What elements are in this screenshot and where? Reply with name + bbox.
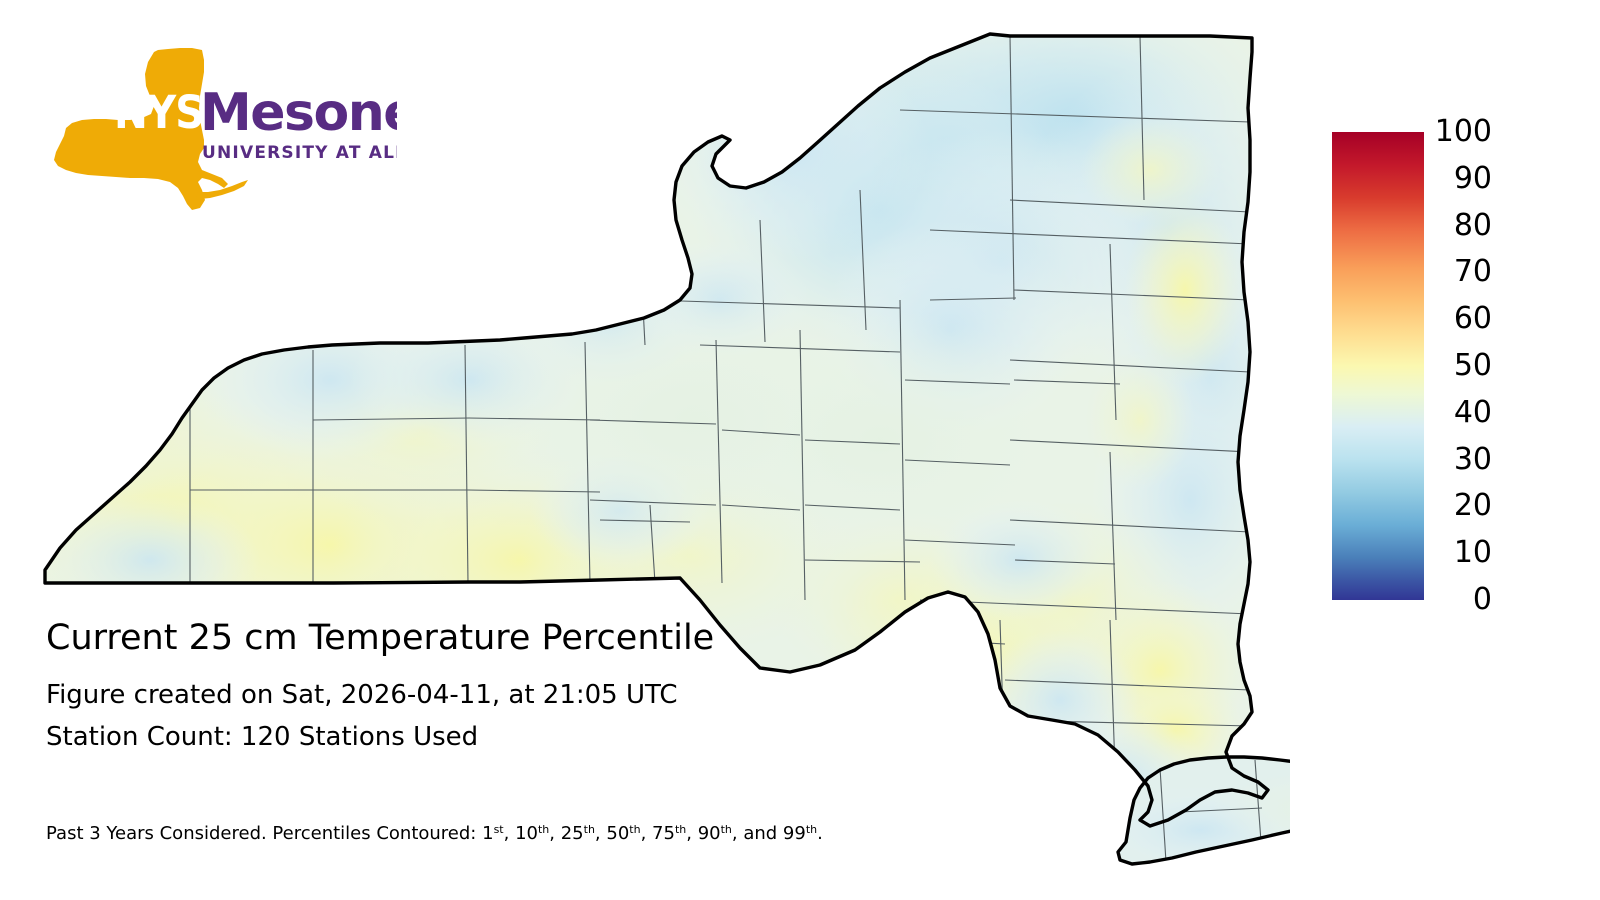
footnote-percentile-ordinal: th: [806, 823, 817, 836]
colorbar-tick-20: 20: [1424, 491, 1492, 521]
footnote-percentile-value: 1: [482, 823, 493, 844]
colorbar-tick-40: 40: [1424, 398, 1492, 428]
colorbar-tick-80: 80: [1424, 211, 1492, 241]
footnote-percentile-value: 25: [561, 823, 584, 844]
colorbar-tick-labels: 100 90 80 70 60 50 40 30 20 10 0: [1424, 132, 1502, 600]
nys-mesonet-logo: NYS Mesonet UNIVERSITY AT ALBANY: [52, 40, 397, 210]
page-title: Current 25 cm Temperature Percentile: [46, 616, 1046, 660]
footnote-prefix: Past 3 Years Considered. Percentiles Con…: [46, 823, 482, 844]
footnote-percentile-ordinal: th: [584, 823, 595, 836]
footnote-percentile-ordinal: th: [675, 823, 686, 836]
colorbar-tick-50: 50: [1424, 351, 1492, 381]
footnote-percentile-value: 10: [515, 823, 538, 844]
colorbar-tick-10: 10: [1424, 538, 1492, 568]
colorbar-gradient: [1332, 132, 1424, 600]
footnote-percentile-value: 90: [698, 823, 721, 844]
footnote-suffix: .: [817, 823, 823, 844]
figure-caption-block: Current 25 cm Temperature Percentile Fig…: [46, 616, 1046, 758]
footnote-percentile-ordinal: st: [494, 823, 504, 836]
colorbar-tick-0: 0: [1424, 585, 1492, 615]
logo-mesonet-text: Mesonet: [200, 83, 397, 143]
footnote-percentile-value: 99: [783, 823, 806, 844]
footnote-percentile-ordinal: th: [721, 823, 732, 836]
colorbar-tick-100: 100: [1424, 117, 1492, 147]
colorbar-tick-30: 30: [1424, 445, 1492, 475]
percentile-colorbar: 100 90 80 70 60 50 40 30 20 10 0: [1332, 132, 1502, 602]
figure-created-timestamp: Figure created on Sat, 2026-04-11, at 21…: [46, 674, 1046, 716]
colorbar-tick-70: 70: [1424, 257, 1492, 287]
footnote-percentile-ordinal: th: [629, 823, 640, 836]
station-count-text: Station Count: 120 Stations Used: [46, 716, 1046, 758]
colorbar-tick-90: 90: [1424, 164, 1492, 194]
colorbar-tick-60: 60: [1424, 304, 1492, 334]
logo-subtitle-text: UNIVERSITY AT ALBANY: [202, 143, 397, 163]
footnote-percentile-value: 75: [652, 823, 675, 844]
figure-canvas: NYS Mesonet UNIVERSITY AT ALBANY 100 90 …: [0, 0, 1600, 900]
logo-nys-text: NYS: [114, 86, 203, 139]
footnote-percentile-value: 50: [606, 823, 629, 844]
footnote-percentile-list: 1st, 10th, 25th, 50th, 75th, 90th, and 9…: [482, 823, 817, 844]
footnote-percentile-ordinal: th: [538, 823, 549, 836]
contour-levels-footnote: Past 3 Years Considered. Percentiles Con…: [46, 822, 823, 846]
